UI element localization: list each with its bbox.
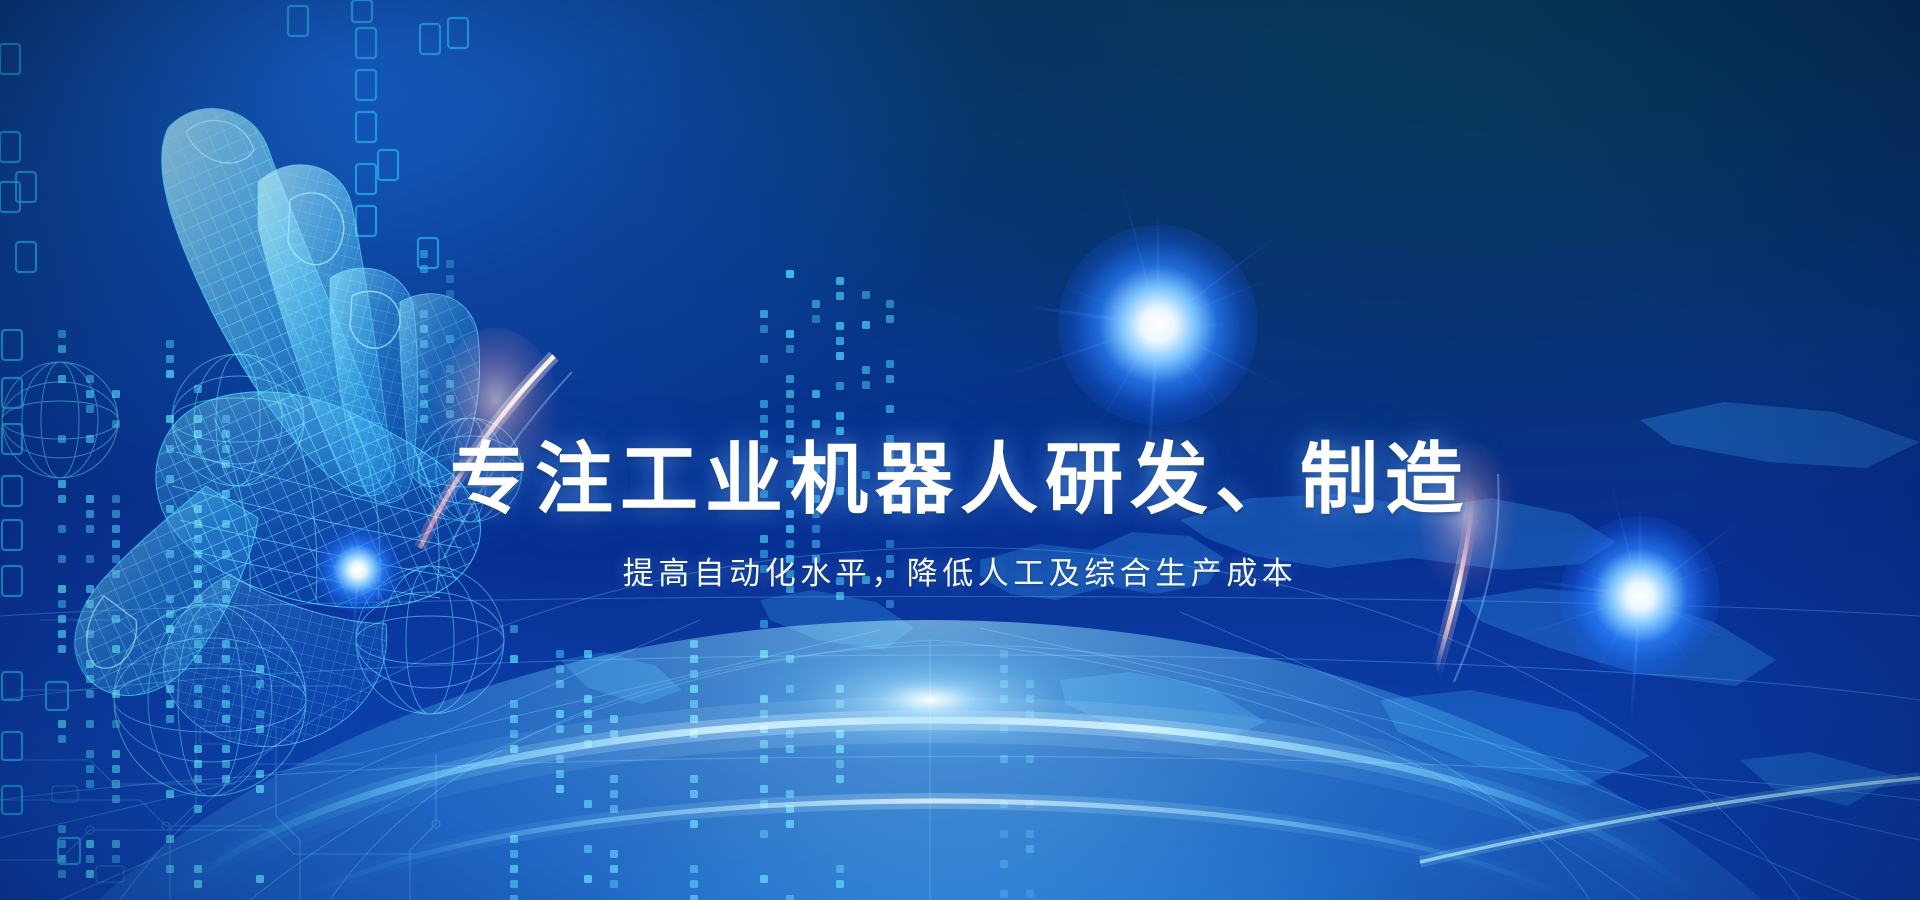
matrix-dot (446, 365, 454, 373)
matrix-dot (510, 865, 518, 873)
matrix-dot (58, 735, 66, 743)
matrix-dot (584, 845, 592, 853)
matrix-dot (812, 300, 820, 308)
matrix-dot (58, 600, 66, 608)
matrix-dot (446, 380, 454, 388)
matrix-dot (556, 755, 564, 763)
star-ray (1027, 305, 1158, 326)
banner-text-block: 专注工业机器人研发、制造 提高自动化水平，降低人工及综合生产成本 (0, 440, 1920, 593)
matrix-dot (836, 382, 844, 390)
star-burst-top (1043, 210, 1273, 440)
matrix-dot (786, 685, 794, 693)
matrix-dot (1000, 695, 1008, 703)
matrix-dot (222, 745, 230, 753)
matrix-dot (86, 780, 94, 788)
matrix-dot (510, 700, 518, 708)
matrix-dot (420, 310, 428, 318)
matrix-dot (1000, 890, 1008, 898)
matrix-dot (510, 880, 518, 888)
matrix-dot (58, 825, 66, 833)
matrix-dot (836, 685, 844, 693)
matrix-dot (256, 665, 264, 673)
matrix-dot (510, 625, 518, 633)
matrix-dot (1000, 800, 1008, 808)
matrix-dot (222, 685, 230, 693)
matrix-dot (446, 335, 454, 343)
matrix-dot (786, 655, 794, 663)
matrix-dot (112, 840, 120, 848)
matrix-dot (886, 405, 894, 413)
matrix-dot (1000, 755, 1008, 763)
matrix-dot (690, 685, 698, 693)
matrix-dot (112, 690, 120, 698)
matrix-dot (584, 725, 592, 733)
matrix-dot (86, 660, 94, 668)
matrix-dot (760, 650, 768, 658)
matrix-dot (1026, 830, 1034, 838)
matrix-dot (584, 740, 592, 748)
matrix-dot (760, 785, 768, 793)
matrix-dot (166, 370, 174, 378)
matrix-dot (86, 870, 94, 878)
matrix-dot (836, 700, 844, 708)
star-ray (1640, 595, 1697, 598)
matrix-dot (1026, 680, 1034, 688)
matrix-dot (610, 850, 618, 858)
matrix-dot (1026, 695, 1034, 703)
matrix-dot (836, 427, 844, 435)
matrix-dot (786, 390, 794, 398)
matrix-dot (584, 650, 592, 658)
matrix-dot (1026, 710, 1034, 718)
matrix-dot (86, 390, 94, 398)
matrix-dot (194, 385, 202, 393)
matrix-dot (690, 640, 698, 648)
matrix-dot (256, 710, 264, 718)
matrix-dot (760, 710, 768, 718)
matrix-dot (836, 865, 844, 873)
matrix-dot (420, 415, 428, 423)
star-ray (1588, 596, 1640, 683)
matrix-dot (836, 592, 844, 600)
matrix-dot (1000, 725, 1008, 733)
matrix-dot (58, 855, 66, 863)
matrix-dot (166, 685, 174, 693)
matrix-dot (58, 645, 66, 653)
hero-banner: 专注工业机器人研发、制造 提高自动化水平，降低人工及综合生产成本 (0, 0, 1920, 900)
matrix-dot (1026, 845, 1034, 853)
matrix-dot (222, 415, 230, 423)
page-subtitle: 提高自动化水平，降低人工及综合生产成本 (0, 548, 1920, 593)
matrix-dot (760, 695, 768, 703)
matrix-dot (222, 715, 230, 723)
matrix-dot (584, 875, 592, 883)
matrix-dot (812, 420, 820, 428)
matrix-dot (194, 775, 202, 783)
matrix-dot (222, 655, 230, 663)
matrix-dot (58, 375, 66, 383)
matrix-dot (760, 740, 768, 748)
matrix-dot (446, 290, 454, 298)
matrix-dot (446, 260, 454, 268)
matrix-dot (58, 720, 66, 728)
matrix-dot (556, 680, 564, 688)
matrix-dot (886, 360, 894, 368)
matrix-dot (1000, 860, 1008, 868)
matrix-dot (760, 755, 768, 763)
matrix-dot (584, 800, 592, 808)
matrix-dot (86, 375, 94, 383)
matrix-dot (194, 430, 202, 438)
matrix-dot (112, 645, 120, 653)
matrix-dot (786, 730, 794, 738)
matrix-dot (112, 795, 120, 803)
matrix-dot (886, 375, 894, 383)
star-ray (1630, 596, 1642, 722)
star-ray (1122, 187, 1159, 325)
matrix-dot (58, 345, 66, 353)
matrix-dot (786, 375, 794, 383)
matrix-dot (58, 615, 66, 623)
matrix-dot (1026, 890, 1034, 898)
matrix-dot (112, 615, 120, 623)
matrix-dot (112, 855, 120, 863)
matrix-dot (112, 780, 120, 788)
matrix-dot (222, 430, 230, 438)
star-core (1058, 225, 1258, 425)
matrix-dot (166, 790, 174, 798)
matrix-dot (194, 595, 202, 603)
matrix-dot (420, 325, 428, 333)
matrix-dot (786, 420, 794, 428)
matrix-dot (690, 775, 698, 783)
matrix-dot (760, 415, 768, 423)
matrix-dot (194, 805, 202, 813)
matrix-dot (1000, 680, 1008, 688)
matrix-dot (420, 250, 428, 258)
star-ray (1157, 325, 1225, 414)
matrix-dot (86, 855, 94, 863)
matrix-dot (194, 865, 202, 873)
matrix-dot (786, 820, 794, 828)
matrix-dot (166, 340, 174, 348)
matrix-dot (510, 835, 518, 843)
matrix-dot (166, 625, 174, 633)
matrix-dot (58, 870, 66, 878)
star-ray (1096, 325, 1159, 430)
matrix-dot (510, 745, 518, 753)
matrix-dot (760, 725, 768, 733)
matrix-dot (556, 785, 564, 793)
matrix-dot (556, 770, 564, 778)
matrix-dot (166, 715, 174, 723)
matrix-dot (690, 730, 698, 738)
matrix-dot (786, 745, 794, 753)
matrix-dot (690, 670, 698, 678)
matrix-dot (420, 265, 428, 273)
matrix-dot (610, 715, 618, 723)
matrix-dot (786, 805, 794, 813)
matrix-dot (86, 765, 94, 773)
matrix-dot (510, 655, 518, 663)
matrix-dot (836, 775, 844, 783)
matrix-dot (760, 830, 768, 838)
star-ray (1158, 233, 1281, 326)
matrix-dot (786, 345, 794, 353)
matrix-dot (446, 395, 454, 403)
matrix-dot (760, 875, 768, 883)
matrix-dot (420, 385, 428, 393)
matrix-dot (836, 352, 844, 360)
matrix-dot (112, 720, 120, 728)
matrix-dot (166, 415, 174, 423)
matrix-dot (556, 650, 564, 658)
matrix-dot (112, 420, 120, 428)
star-rays (1043, 210, 1273, 440)
matrix-dot (510, 850, 518, 858)
matrix-dot (256, 785, 264, 793)
matrix-dot (760, 620, 768, 628)
matrix-dot (86, 600, 94, 608)
matrix-dot (194, 640, 202, 648)
matrix-dot (256, 770, 264, 778)
matrix-dot (690, 820, 698, 828)
matrix-dot (194, 700, 202, 708)
matrix-dot (166, 355, 174, 363)
matrix-dot (610, 805, 618, 813)
matrix-dot (166, 610, 174, 618)
matrix-dot (556, 665, 564, 673)
matrix-dot (1026, 800, 1034, 808)
matrix-dot (690, 715, 698, 723)
matrix-dot (1000, 650, 1008, 658)
matrix-dot (222, 775, 230, 783)
matrix-dot (836, 760, 844, 768)
matrix-dot (786, 330, 794, 338)
matrix-dot (760, 400, 768, 408)
star-ray (1512, 595, 1640, 639)
matrix-dot (836, 322, 844, 330)
star-ray (1157, 254, 1194, 326)
matrix-dot (420, 340, 428, 348)
matrix-dot (886, 315, 894, 323)
matrix-dot (836, 880, 844, 888)
matrix-dot (836, 277, 844, 285)
matrix-dot (112, 390, 120, 398)
matrix-dot (836, 337, 844, 345)
matrix-dot (1000, 665, 1008, 673)
matrix-dot (86, 840, 94, 848)
matrix-dot (836, 745, 844, 753)
matrix-dot (862, 321, 870, 329)
star-ray (1112, 272, 1158, 325)
star-ray (1094, 324, 1159, 389)
matrix-dot (86, 675, 94, 683)
matrix-dot (194, 760, 202, 768)
matrix-dot (886, 600, 894, 608)
matrix-dot (86, 720, 94, 728)
matrix-dot (1000, 830, 1008, 838)
star-ray (1587, 595, 1641, 649)
matrix-dot (166, 835, 174, 843)
matrix-dot (166, 700, 174, 708)
star-ray (1639, 596, 1695, 670)
matrix-dot (610, 865, 618, 873)
matrix-dot (690, 655, 698, 663)
matrix-dot (610, 880, 618, 888)
star-ray (1065, 286, 1158, 326)
matrix-dot (786, 790, 794, 798)
star-ray (1157, 214, 1160, 325)
matrix-dot (862, 291, 870, 299)
matrix-dot (256, 680, 264, 688)
matrix-dot (166, 595, 174, 603)
matrix-dot (112, 765, 120, 773)
page-title: 专注工业机器人研发、制造 (0, 440, 1920, 520)
matrix-dot (786, 895, 794, 900)
matrix-dot (510, 730, 518, 738)
matrix-dot (58, 840, 66, 848)
matrix-dot (510, 895, 518, 900)
matrix-dot (446, 410, 454, 418)
matrix-dot (760, 310, 768, 318)
matrix-dot (222, 760, 230, 768)
matrix-dot (194, 415, 202, 423)
matrix-dot (862, 366, 870, 374)
matrix-dot (112, 750, 120, 758)
matrix-dot (194, 745, 202, 753)
matrix-dot (194, 655, 202, 663)
matrix-dot (58, 330, 66, 338)
matrix-dot (812, 315, 820, 323)
matrix-dot (690, 700, 698, 708)
star-ray (1158, 278, 1271, 326)
matrix-dot (1026, 755, 1034, 763)
matrix-dot (886, 300, 894, 308)
matrix-dot (584, 710, 592, 718)
matrix-dot (760, 800, 768, 808)
matrix-dot (194, 685, 202, 693)
matrix-dot (194, 625, 202, 633)
matrix-dot (556, 725, 564, 733)
matrix-dot (812, 390, 820, 398)
matrix-dot (420, 370, 428, 378)
star-ray (1639, 596, 1666, 657)
star-ray (1157, 325, 1189, 399)
matrix-dot (86, 630, 94, 638)
matrix-dot (222, 595, 230, 603)
matrix-dot (690, 790, 698, 798)
matrix-dot (862, 381, 870, 389)
matrix-dot (690, 880, 698, 888)
matrix-dot (256, 725, 264, 733)
matrix-dot (690, 895, 698, 900)
matrix-dot (786, 405, 794, 413)
star-ray (1158, 324, 1286, 389)
matrix-dot (760, 325, 768, 333)
matrix-dot (610, 730, 618, 738)
matrix-dot (222, 640, 230, 648)
matrix-dot (610, 775, 618, 783)
star-ray (1003, 324, 1158, 377)
matrix-dot (510, 715, 518, 723)
matrix-dot (610, 790, 618, 798)
matrix-dot (760, 355, 768, 363)
matrix-dot (194, 880, 202, 888)
matrix-dot (222, 700, 230, 708)
matrix-dot (836, 292, 844, 300)
matrix-dot (420, 400, 428, 408)
matrix-dot (786, 270, 794, 278)
star-ray (1158, 324, 1227, 327)
matrix-dot (836, 730, 844, 738)
matrix-dot (86, 690, 94, 698)
matrix-dot (58, 630, 66, 638)
matrix-dot (556, 710, 564, 718)
matrix-dot (256, 875, 264, 883)
matrix-dot (86, 750, 94, 758)
matrix-dot (836, 412, 844, 420)
matrix-dot (690, 865, 698, 873)
matrix-dot (446, 275, 454, 283)
star-ray (1640, 595, 1746, 649)
matrix-dot (166, 865, 174, 873)
matrix-dot (86, 405, 94, 413)
matrix-dot (584, 695, 592, 703)
